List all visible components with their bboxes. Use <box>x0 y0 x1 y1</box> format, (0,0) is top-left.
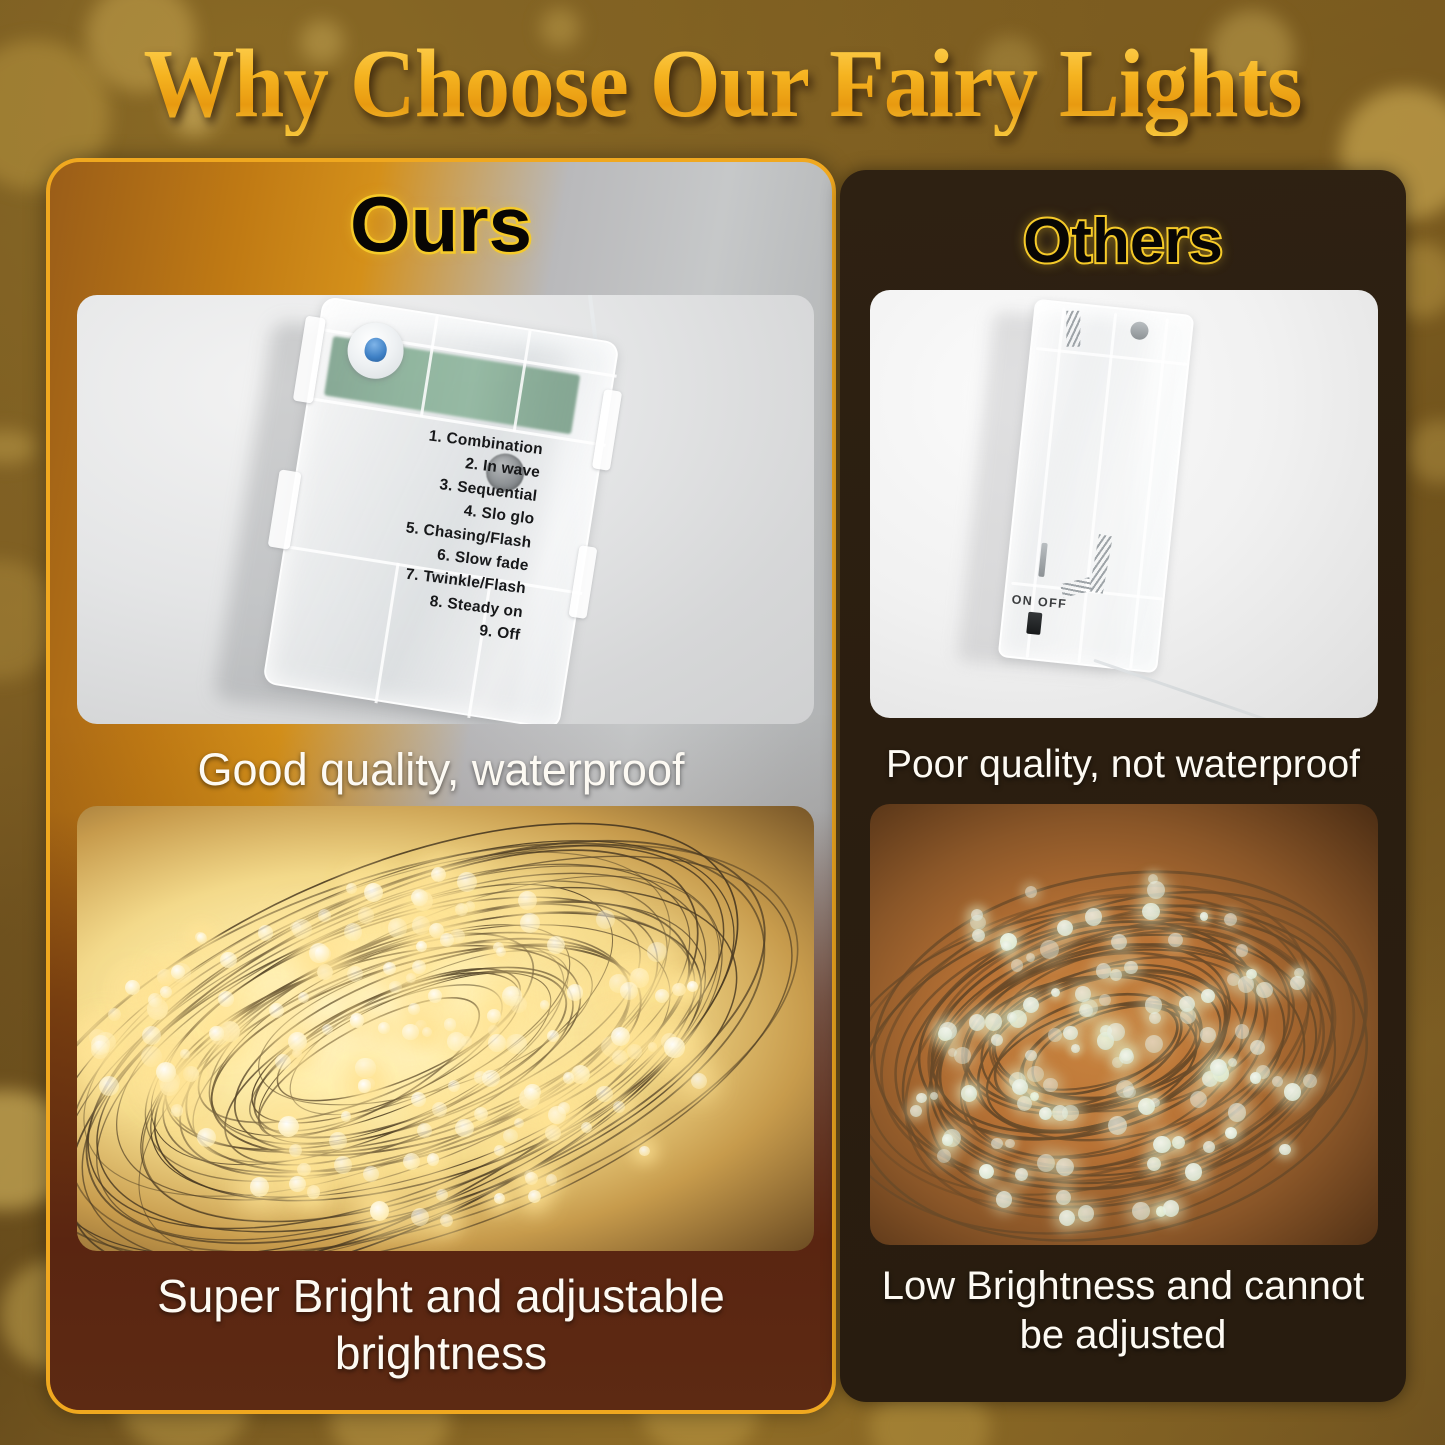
led-bulb <box>664 1037 684 1057</box>
fairy-light-strand-dim <box>870 804 1378 1245</box>
led-bulb <box>160 986 172 998</box>
photo-others-dim-lights <box>870 804 1378 1245</box>
led-bulb <box>346 883 357 894</box>
led-bulb <box>514 1118 525 1129</box>
led-bulb <box>318 909 331 922</box>
led-bulb <box>1110 969 1122 981</box>
led-bulb <box>378 1022 390 1034</box>
mode-list: 1. Combination2. In wave3. Sequential4. … <box>296 411 550 648</box>
led-bulb <box>482 1070 500 1088</box>
photo-ours-battery-box: 1. Combination2. In wave3. Sequential4. … <box>77 295 814 724</box>
led-bulb <box>1203 1141 1215 1153</box>
led-bulb <box>502 986 522 1006</box>
led-bulb <box>347 966 363 982</box>
photo-ours-bright-lights <box>77 806 814 1251</box>
led-bulb <box>648 1042 658 1052</box>
led-bulb <box>1015 1168 1028 1181</box>
led-bulb <box>298 992 309 1003</box>
led-bulb <box>1039 1107 1052 1120</box>
led-bulb <box>611 1027 630 1046</box>
led-bulb <box>1085 908 1103 926</box>
led-bulb <box>494 1145 505 1156</box>
led-bulb <box>317 964 333 980</box>
led-bulb <box>1059 1210 1075 1226</box>
led-bulb <box>1027 1066 1044 1083</box>
caption-line-2: brightness <box>70 1325 812 1382</box>
battery-contact <box>1130 321 1150 341</box>
led-bulb <box>1236 944 1249 957</box>
battery-box-ours: 1. Combination2. In wave3. Sequential4. … <box>262 296 620 724</box>
panel-others: Others ON OFF Poor quality, not waterpro… <box>840 170 1406 1402</box>
led-bulb <box>488 1034 506 1052</box>
led-bulb <box>1048 1028 1062 1042</box>
heading-ours: Ours <box>50 184 832 264</box>
led-bulb <box>431 867 446 882</box>
led-bulb <box>416 941 427 952</box>
led-bulb <box>406 973 416 983</box>
divider-rail <box>1129 318 1169 668</box>
led-bulb <box>1250 1072 1262 1084</box>
led-bulb <box>1078 1205 1094 1221</box>
led-bulb <box>546 1174 557 1185</box>
led-bulb <box>1071 1044 1080 1053</box>
led-bulb <box>289 1144 302 1157</box>
led-bulb <box>358 1079 372 1093</box>
divider-rail <box>1077 313 1117 663</box>
led-bulb <box>1238 976 1254 992</box>
led-bulb <box>969 1014 986 1031</box>
photo-others-battery-holder: ON OFF <box>870 290 1378 718</box>
led-bulb <box>503 1129 517 1143</box>
led-bulb <box>1147 881 1165 899</box>
led-bulb <box>1228 1103 1247 1122</box>
led-bulb <box>1025 1050 1037 1062</box>
led-bulb <box>972 929 985 942</box>
led-bulb <box>457 872 477 892</box>
caption-line-2: be adjusted <box>860 1311 1386 1360</box>
led-bulb <box>444 1018 457 1031</box>
led-bulb <box>1040 940 1059 959</box>
led-bulb <box>916 1093 927 1104</box>
led-bulb <box>567 984 584 1001</box>
led-bulb <box>440 1214 453 1227</box>
led-bulb <box>334 1156 352 1174</box>
led-bulb <box>412 960 426 974</box>
led-bulb <box>1096 963 1112 979</box>
led-bulb <box>388 918 408 938</box>
led-bulb <box>447 1032 466 1051</box>
led-bulb <box>329 1132 347 1150</box>
led-bulb <box>364 883 383 902</box>
led-bulb <box>1201 989 1214 1002</box>
led-bulb <box>687 981 698 992</box>
led-bulb <box>436 1189 448 1201</box>
led-bulb <box>1142 903 1160 921</box>
fairy-light-strand-bright <box>77 806 814 1251</box>
led-bulb <box>292 919 312 939</box>
led-bulb <box>383 962 396 975</box>
led-bulb <box>1224 913 1237 926</box>
led-bulb <box>195 932 206 943</box>
caption-line-1: Low Brightness and cannot <box>860 1262 1386 1311</box>
led-bulb <box>1108 1116 1127 1135</box>
led-bulb <box>402 1024 418 1040</box>
led-bulb <box>1172 1136 1185 1149</box>
led-bulb <box>1063 1026 1077 1040</box>
led-bulb <box>1200 912 1209 921</box>
led-bulb <box>440 933 454 947</box>
led-bulb <box>1284 1083 1302 1101</box>
led-bulb <box>1279 1144 1291 1156</box>
page-title: Why Choose Our Fairy Lights <box>51 32 1395 136</box>
led-bulb <box>1147 1157 1161 1171</box>
led-bulb <box>417 1123 432 1138</box>
led-bulb <box>1235 1024 1250 1039</box>
led-bulb <box>1290 976 1305 991</box>
led-bulb <box>448 1080 460 1092</box>
led-bulb <box>142 1026 161 1045</box>
led-bulb <box>942 1134 954 1146</box>
led-bulb <box>412 916 431 935</box>
led-bulb <box>403 1153 420 1170</box>
led-bulb <box>1303 1074 1317 1088</box>
led-bulb <box>524 1084 541 1101</box>
led-bulb <box>910 1105 922 1117</box>
led-bulb <box>1056 1190 1071 1205</box>
led-bulb <box>209 1026 224 1041</box>
panel-ours: Ours 1. Combination2. In wave3. Sequenti… <box>46 158 836 1414</box>
caption-ours-quality: Good quality, waterproof <box>50 745 832 795</box>
caption-ours-brightness: Super Bright and adjustable brightness <box>50 1268 832 1382</box>
led-bulb <box>309 943 329 963</box>
led-bulb <box>1153 1136 1171 1154</box>
led-bulb <box>1256 982 1272 998</box>
led-bulb <box>639 1146 650 1157</box>
lead-wire <box>1093 659 1283 718</box>
led-bulb <box>563 1072 575 1084</box>
led-bulb <box>1011 959 1024 972</box>
led-bulb <box>1200 1027 1216 1043</box>
heading-others: Others <box>840 202 1406 282</box>
led-bulb <box>1052 1105 1068 1121</box>
led-bulb <box>506 1034 527 1055</box>
led-bulb <box>220 952 237 969</box>
led-bulb <box>289 1176 306 1193</box>
led-bulb <box>1007 1012 1018 1023</box>
led-bulb <box>455 903 468 916</box>
led-bulb <box>389 981 402 994</box>
led-bulb <box>496 947 506 957</box>
caption-others-quality: Poor quality, not waterproof <box>840 740 1406 790</box>
led-bulb <box>1005 1139 1014 1148</box>
led-bulb <box>427 1153 440 1166</box>
led-bulb <box>363 1166 379 1182</box>
led-bulb <box>455 1119 473 1137</box>
led-bulb <box>322 1024 333 1035</box>
power-switch[interactable] <box>1026 612 1042 635</box>
led-bulb <box>971 909 983 921</box>
led-bulb <box>275 1054 291 1070</box>
led-bulb <box>171 1104 184 1117</box>
led-bulb <box>218 991 234 1007</box>
led-bulb <box>991 1138 1003 1150</box>
led-bulb <box>350 1013 365 1028</box>
battery-holder-others: ON OFF <box>998 299 1195 674</box>
led-bulb <box>411 1208 429 1226</box>
led-bulb <box>1107 1023 1125 1041</box>
led-bulb <box>1111 934 1127 950</box>
led-bulb <box>612 1050 628 1066</box>
led-bulb <box>258 925 273 940</box>
led-bulb <box>91 1035 111 1055</box>
led-bulb <box>627 1044 642 1059</box>
led-bulb <box>288 1032 307 1051</box>
led-bulb <box>996 1191 1013 1208</box>
led-bulb <box>494 1193 505 1204</box>
led-bulb <box>99 1076 119 1096</box>
led-bulb <box>596 910 615 929</box>
led-bulb <box>520 913 540 933</box>
caption-others-brightness: Low Brightness and cannot be adjusted <box>840 1262 1406 1360</box>
led-bulb <box>1043 1078 1058 1093</box>
led-bulb <box>1168 933 1183 948</box>
led-bulb <box>1185 1163 1202 1180</box>
led-bulb <box>672 983 686 997</box>
led-bulb <box>1017 1096 1033 1112</box>
led-bulb <box>939 1022 957 1040</box>
led-bulb <box>613 1101 625 1113</box>
battery-spring <box>1066 311 1080 347</box>
battery-spring <box>1060 577 1092 598</box>
led-bulb <box>474 1107 488 1121</box>
led-bulb <box>358 907 375 924</box>
led-bulb <box>1119 1050 1134 1065</box>
led-bulb <box>985 1013 1003 1031</box>
led-bulb <box>432 1102 447 1117</box>
led-bulb <box>525 1172 538 1185</box>
led-bulb <box>408 1003 420 1015</box>
led-bulb <box>1075 986 1090 1001</box>
caption-line-1: Super Bright and adjustable <box>70 1268 812 1325</box>
led-bulb <box>156 1062 176 1082</box>
led-bulb <box>1132 1202 1150 1220</box>
